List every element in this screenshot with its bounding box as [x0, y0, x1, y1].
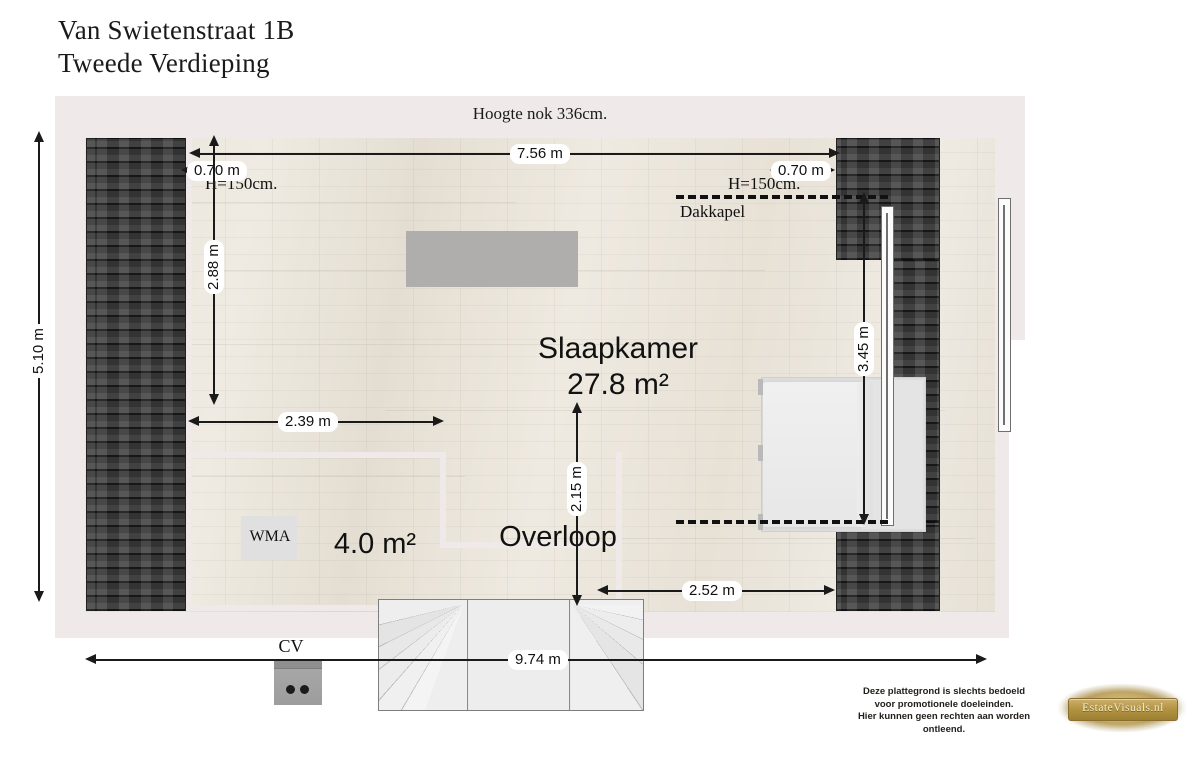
cv-boiler-top [274, 661, 322, 669]
slab-notch [1009, 340, 1025, 638]
dim-arrow-left [597, 585, 608, 595]
dim-arrow-up [859, 192, 869, 203]
title-address: Van Swietenstraat 1B [58, 14, 294, 47]
wall-left-inner [186, 138, 192, 611]
estatevisuals-logo[interactable]: EstateVisuals.nl [1058, 680, 1186, 736]
dim-label-0-70-right: 0.70 m [771, 161, 831, 181]
dakkapel-dashed-bottom [676, 520, 888, 524]
cv-label: CV [261, 636, 321, 657]
dim-arrow-left [188, 416, 199, 426]
room-name-overloop: Overloop [463, 521, 653, 554]
dim-arrow-left [85, 654, 96, 664]
cv-boiler-dial [286, 685, 295, 694]
dim-label-0-70-left: 0.70 m [187, 161, 247, 181]
bed-duvet-fold [857, 382, 873, 527]
room-name-slaapkamer: Slaapkamer [448, 331, 788, 367]
dim-arrow-right [824, 585, 835, 595]
logo-plate: EstateVisuals.nl [1068, 698, 1178, 721]
disclaimer-line-1: Deze plattegrond is slechts bedoeld [836, 686, 1052, 699]
roof-tiles-bottom-right [836, 522, 940, 611]
dim-arrow-left [189, 148, 200, 158]
dim-label-5-10: 5.10 m [29, 324, 49, 378]
dim-arrow-right [829, 148, 840, 158]
dim-arrow-down [572, 595, 582, 606]
wall-wma-top [186, 452, 446, 458]
dim-label-7-56: 7.56 m [510, 144, 570, 164]
skylight-rect [406, 231, 578, 287]
wma-label: WMA [246, 528, 294, 546]
dim-arrow-up [34, 131, 44, 142]
bed-post [758, 445, 763, 461]
dim-arrow-down [209, 394, 219, 405]
dim-arrow-up [572, 402, 582, 413]
logo-text: EstateVisuals.nl [1069, 699, 1177, 718]
dim-label-2-88: 2.88 m [204, 240, 224, 294]
dim-arrow-right [976, 654, 987, 664]
dim-arrow-down [34, 591, 44, 602]
stair-winder-left-treads [379, 600, 468, 710]
dim-label-2-15: 2.15 m [567, 462, 587, 516]
dim-label-2-52: 2.52 m [682, 581, 742, 601]
bed-duvet [763, 382, 871, 527]
roof-tiles-left [86, 138, 186, 611]
cv-boiler-dial [300, 685, 309, 694]
dim-arrow-right [433, 416, 444, 426]
disclaimer-line-3: Hier kunnen geen rechten aan worden ontl… [836, 711, 1052, 736]
exterior-window-right [998, 198, 1011, 432]
window-mullion [1003, 205, 1005, 425]
dim-arrow-up [209, 135, 219, 146]
stair-tread [469, 600, 495, 710]
cv-boiler-unit [274, 661, 322, 705]
ridge-height-note: Hoogte nok 336cm. [55, 104, 1025, 124]
dim-label-3-45: 3.45 m [854, 322, 874, 376]
disclaimer-text: Deze plattegrond is slechts bedoeld voor… [836, 686, 1052, 736]
room-area-slaapkamer: 27.8 m² [448, 367, 788, 403]
window-mullion [886, 213, 888, 519]
page-title: Van Swietenstraat 1B Tweede Verdieping [58, 14, 294, 80]
dakkapel-dashed-top [676, 195, 888, 199]
room-label-slaapkamer: Slaapkamer 27.8 m² [448, 331, 788, 403]
stair-winder-right-treads [571, 600, 643, 710]
dim-arrow-down [859, 514, 869, 525]
title-floor: Tweede Verdieping [58, 47, 294, 80]
dakkapel-label: Dakkapel [680, 202, 745, 222]
dim-label-2-39: 2.39 m [278, 412, 338, 432]
room-area-wma: 4.0 m² [295, 528, 455, 561]
floor-plan-slab: Hoogte nok 336cm. WMA CV [55, 96, 1025, 638]
disclaimer-line-2: voor promotionele doeleinden. [836, 699, 1052, 712]
dakkapel-window [881, 206, 894, 526]
dim-label-9-74: 9.74 m [508, 650, 568, 670]
